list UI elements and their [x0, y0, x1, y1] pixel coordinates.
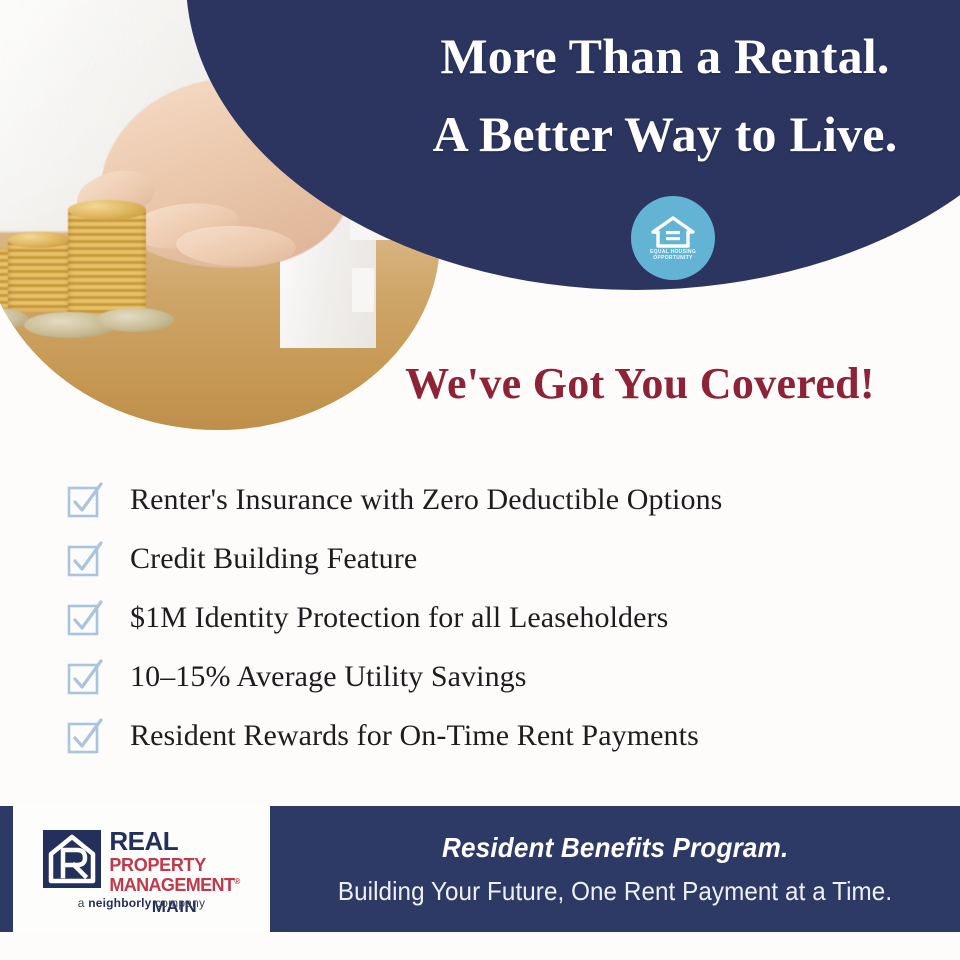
house-door — [352, 268, 374, 312]
list-item: Credit Building Feature — [66, 529, 936, 588]
coin-top — [68, 200, 146, 220]
benefits-list: Renter's Insurance with Zero Deductible … — [66, 470, 936, 765]
company-logo: REAL PROPERTY MANAGEMENT® MAIN — [13, 806, 270, 932]
tagline-suffix: company — [152, 896, 206, 910]
coin-top — [8, 232, 70, 248]
checkbox-checked-icon — [66, 658, 104, 696]
checkbox-checked-icon — [66, 599, 104, 637]
checkbox-checked-icon — [66, 540, 104, 578]
footer-banner: Resident Benefits Program. Building Your… — [270, 806, 960, 932]
footer-subtitle: Building Your Future, One Rent Payment a… — [338, 876, 892, 907]
coin-stack — [68, 208, 146, 316]
logo-word-real: REAL — [109, 828, 239, 854]
list-item: Renter's Insurance with Zero Deductible … — [66, 470, 936, 529]
promo-poster: More Than a Rental. A Better Way to Live… — [0, 0, 960, 960]
logo-word-property: PROPERTY — [109, 856, 239, 874]
list-item: Resident Rewards for On-Time Rent Paymen… — [66, 706, 936, 765]
footer-left-accent-strip — [0, 806, 13, 932]
tagline-brand: neighborly — [88, 896, 151, 910]
rpm-house-r-icon — [43, 830, 101, 888]
eho-line-2: OPPORTUNITY — [653, 255, 692, 261]
list-item-label: $1M Identity Protection for all Leasehol… — [130, 601, 668, 635]
neighborly-tagline: a neighborly company — [13, 896, 270, 910]
footer-title: Resident Benefits Program. — [442, 832, 788, 864]
checkbox-checked-icon — [66, 481, 104, 519]
checkbox-checked-icon — [66, 717, 104, 755]
equal-housing-opportunity-icon: EQUAL HOUSING OPPORTUNITY — [631, 196, 715, 280]
equal-housing-label: EQUAL HOUSING OPPORTUNITY — [650, 250, 696, 262]
page-title: More Than a Rental. A Better Way to Live… — [380, 18, 950, 173]
registered-mark: ® — [234, 877, 239, 886]
headline-line-2: A Better Way to Live. — [380, 96, 950, 174]
subheadline: We've Got You Covered! — [340, 358, 940, 409]
list-item-label: Credit Building Feature — [130, 542, 417, 576]
list-item-label: 10–15% Average Utility Savings — [130, 660, 527, 694]
list-item-label: Renter's Insurance with Zero Deductible … — [130, 483, 722, 517]
list-item: $1M Identity Protection for all Leasehol… — [66, 588, 936, 647]
list-item-label: Resident Rewards for On-Time Rent Paymen… — [130, 719, 699, 753]
headline-line-1: More Than a Rental. — [380, 18, 950, 96]
logo-word-management: MANAGEMENT® — [109, 876, 239, 894]
list-item: 10–15% Average Utility Savings — [66, 647, 936, 706]
tagline-prefix: a — [78, 896, 88, 910]
loose-coin — [96, 308, 174, 332]
logo-management-text: MANAGEMENT — [109, 875, 234, 895]
coin-stack — [8, 238, 70, 312]
